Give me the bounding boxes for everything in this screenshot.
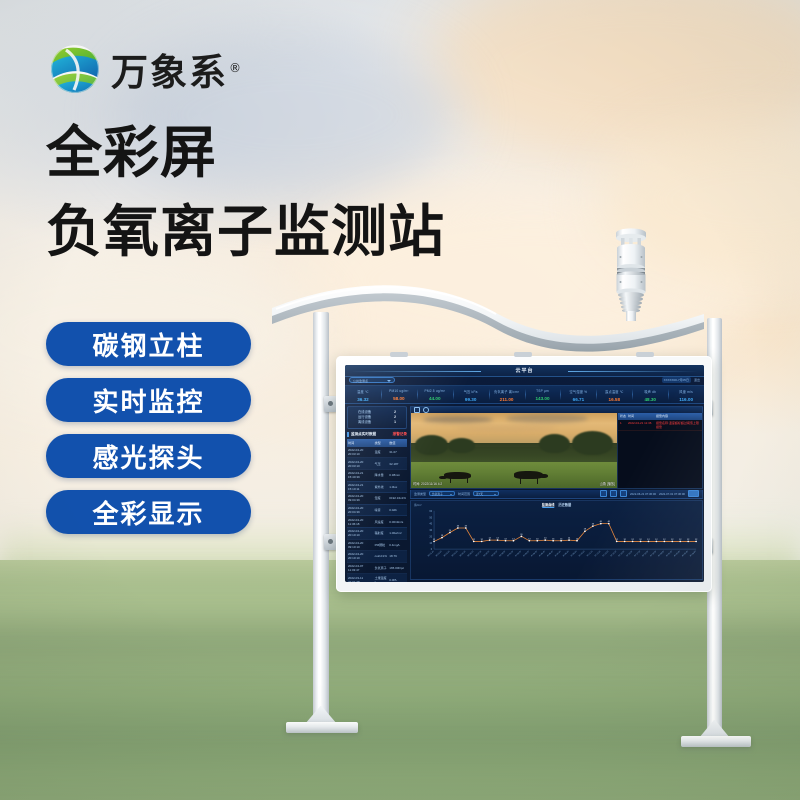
feature-badge-full-color-display: 全彩显示 xyxy=(46,490,251,534)
chart-point-label: 13 xyxy=(504,538,507,540)
cell-type: 噪音 xyxy=(374,504,389,516)
cell-value: 0.0db xyxy=(388,504,407,516)
cell-time: 2022-04-20 20:03:10 xyxy=(347,458,374,470)
feature-badge-list: 碳钢立柱 实时监控 感光探头 全彩显示 xyxy=(46,322,251,534)
stat-value: 1 xyxy=(394,420,396,425)
metric-tsp: TSP µm 143.00 xyxy=(525,386,561,403)
monitoring-chart-panel: 离/cm³ 监测曲线 历史数据 010203040506012182633331… xyxy=(410,500,703,581)
table-row[interactable]: 2022-04-20 20:03:10气压32.187 xyxy=(347,458,407,470)
metric-value: 211.00 xyxy=(489,397,525,402)
x-tick-label: 06-27 07 xyxy=(475,550,482,557)
chart-point-label: 20 xyxy=(520,533,523,535)
chart-point-label: 14 xyxy=(488,537,491,539)
metric-label: 温度 ℃ xyxy=(345,389,381,394)
data-table-header-bar: 监测点实时数据 报警记录 xyxy=(347,432,407,437)
metric-noise: 噪声 db 48.30 xyxy=(632,386,668,403)
metric-label: 噪声 db xyxy=(632,389,668,394)
cell-value: 32.187 xyxy=(388,458,407,470)
chart-point-label: 12 xyxy=(616,538,619,540)
metric-strip: 温度 ℃ 36.32 PM10 ug/m³ 58.00 PM2.5 ug/m³ … xyxy=(345,385,704,404)
x-tick-label: 06-28 07 xyxy=(483,550,490,557)
chart-point-label: 33 xyxy=(457,525,460,527)
col-type: 类型 xyxy=(374,439,389,447)
date-to[interactable]: 2022-07-01 07:36:00 xyxy=(659,492,685,496)
query-button[interactable] xyxy=(688,490,699,497)
metric-label: 空气湿度 % xyxy=(560,389,596,394)
alarm-row[interactable]: 1 2022-04-21 11:36 报警名称:温度超标超过阈值上限报警 xyxy=(618,420,702,432)
metric-pressure: 气压 kPa 99.30 xyxy=(453,386,489,403)
cell-time: 2022-04-20 20:10:10 xyxy=(347,527,374,539)
x-tick-label: 06-29 07 xyxy=(491,550,498,557)
col-time: 时间 xyxy=(347,439,374,447)
video-cattle-leg xyxy=(520,478,521,484)
chart-point-label: 13 xyxy=(552,538,555,540)
metric-value: 116.00 xyxy=(668,397,704,402)
metric-label: PM10 ug/m³ xyxy=(381,389,417,393)
live-video-feed[interactable]: 时间: 2022/11/16 4:2 山角 [播放] xyxy=(411,413,617,488)
metric-label: 露点温度 ℃ xyxy=(596,389,632,394)
chart-point-label: 33 xyxy=(465,525,468,527)
x-tick-label: 07-21 07 xyxy=(666,550,673,557)
control-label-type: 监测类型 xyxy=(414,492,426,496)
video-cattle-leg xyxy=(450,478,451,483)
cell-type: 风速度 xyxy=(374,516,389,528)
metric-pm10: PM10 ug/m³ 58.00 xyxy=(381,386,417,403)
video-location-label: 山角 [播放] xyxy=(600,481,615,486)
x-tick-label: 07-08 07 xyxy=(563,550,570,557)
header-decor-right xyxy=(568,371,698,372)
x-tick-label: 06-24 07 xyxy=(452,550,459,557)
cell-time: 2022-04-20 09:04:39 xyxy=(347,493,374,505)
x-tick-label: 07-19 07 xyxy=(650,550,657,557)
monitor-type-select[interactable]: 负氧离子 xyxy=(429,491,455,497)
led-screen: 云平台 公共监测点 XXXXX00-7月05日 退出 温度 ℃ 36.32 PM… xyxy=(345,365,704,582)
x-tick-label: 06-21 07 xyxy=(428,550,435,557)
table-row[interactable]: 2022-04-21 15:10:11紫外线1.0lux xyxy=(347,481,407,493)
x-tick-label: 07-13 07 xyxy=(602,550,609,557)
ultrasonic-weather-sensor-icon xyxy=(608,225,654,321)
x-tick-label: 07-16 07 xyxy=(626,550,633,557)
table-row[interactable]: 2022-04-20 11:36:18风速度0.0019m/s xyxy=(347,516,407,528)
cell-value: 31.07 xyxy=(388,447,407,458)
display-cabinet: 云平台 公共监测点 XXXXX00-7月05日 退出 温度 ℃ 36.32 PM… xyxy=(336,356,712,592)
x-tick-label: 07-07 07 xyxy=(555,550,562,557)
brand-name: 万象系® xyxy=(111,42,243,96)
metric-label: 风速 m/s xyxy=(668,389,704,394)
y-tick-label: 40 xyxy=(429,522,432,525)
cell-type: 紫外线 xyxy=(374,481,389,493)
chart-point-label: 12 xyxy=(655,538,658,540)
x-tick-label: 07-15 07 xyxy=(618,550,625,557)
metric-value: 16.58 xyxy=(596,397,632,402)
alarm-record-link[interactable]: 报警记录 xyxy=(393,432,407,437)
video-cattle-leg xyxy=(467,478,468,483)
headline-line-2: 负氧离子监测站 xyxy=(46,205,445,261)
site-select-dropdown[interactable]: 公共监测点 xyxy=(349,377,395,383)
x-tick-label: 06-25 07 xyxy=(460,550,467,557)
feature-badge-carbon-steel-post: 碳钢立柱 xyxy=(46,322,251,366)
device-stats-panel: 在线设备 2 运行设备 2 离线设备 1 xyxy=(347,406,407,429)
chart-point-label: 12 xyxy=(663,538,666,540)
x-tick-label: 07-03 07 xyxy=(523,550,530,557)
x-tick-label: 07-22 07 xyxy=(674,550,681,557)
stat-label: 离线设备 xyxy=(358,420,371,425)
x-tick-label: 06-30 07 xyxy=(499,550,506,557)
table-row[interactable]: 2022-04-20 20:03:10温度31.07 xyxy=(347,447,407,458)
chart-point-label: 12 xyxy=(631,538,634,540)
x-tick-label: 07-04 07 xyxy=(531,550,538,557)
x-tick-label: 07-12 07 xyxy=(595,550,602,557)
dashboard-title: 云平台 xyxy=(515,367,533,374)
table-row[interactable]: 2022-04-20 09:10:10PM颗粒0.4mg/L xyxy=(347,539,407,551)
y-tick-label: 50 xyxy=(429,516,432,519)
cell-type: 温度 xyxy=(374,447,389,458)
table-row[interactable]: 2022-04-20 20:10:10辐射度1.00w/m² xyxy=(347,527,407,539)
metric-temperature: 温度 ℃ 36.32 xyxy=(345,386,381,403)
chart-point-label: 14 xyxy=(496,537,499,539)
alarm-header-row: 状态 时间 报警内容 xyxy=(618,413,702,420)
grass-field-background xyxy=(0,560,800,800)
table-header-row: 时间 类型 数值 xyxy=(347,439,407,447)
metric-pm25: PM2.5 ug/m³ 44.00 xyxy=(417,386,453,403)
metric-value: 48.30 xyxy=(632,397,668,402)
headline-line-1: 全彩屏 xyxy=(46,126,217,182)
cell-value: 0.0PL xyxy=(388,574,407,582)
x-tick-label: 06-26 07 xyxy=(467,550,474,557)
x-tick-label: 07-09 07 xyxy=(571,550,578,557)
cell-type: 负氧离子 xyxy=(374,562,389,574)
cell-type: 气压 xyxy=(374,458,389,470)
x-tick-label: 06-22 07 xyxy=(436,550,443,557)
stat-row: 离线设备 1 xyxy=(352,420,402,425)
center-column: 时间: 2022/11/16 4:2 山角 [播放] 状态 时间 报警内容 xyxy=(409,404,704,582)
cell-type: 辐射度 xyxy=(374,527,389,539)
alarm-content: 报警名称:温度超标超过阈值上限报警 xyxy=(656,421,700,429)
feature-badge-realtime-monitoring: 实时监控 xyxy=(46,378,251,422)
cell-time: 2022-04-21 15:40:39 xyxy=(347,469,374,481)
alarm-col-time: 时间 xyxy=(628,414,656,418)
cell-type: PM颗粒 xyxy=(374,539,389,551)
user-name: XXXXX00-7月05日 xyxy=(662,377,691,383)
metric-value: 143.00 xyxy=(525,396,561,401)
cell-time: 2022-04-20 20:04:39 xyxy=(347,504,374,516)
alarm-list-pane: 状态 时间 报警内容 1 2022-04-21 11:36 报警名称:温度超标超… xyxy=(617,413,702,488)
cell-time: 2022-04-20 20:10:10 xyxy=(347,551,374,563)
cell-time: 2022-04-20 20:03:10 xyxy=(347,447,374,458)
monitoring-dashboard: 云平台 公共监测点 XXXXX00-7月05日 退出 温度 ℃ 36.32 PM… xyxy=(345,365,704,582)
cell-value: 0.38mm xyxy=(388,469,407,481)
x-tick-label: 07-20 07 xyxy=(658,550,665,557)
view-mode-icon-1[interactable] xyxy=(600,490,607,497)
cell-value: 0192.34x1% xyxy=(388,493,407,505)
cabinet-top-tab xyxy=(390,352,408,357)
cell-value: 18.79 xyxy=(388,551,407,563)
alarm-time: 2022-04-21 11:36 xyxy=(628,421,656,429)
cell-type: co2x±1% xyxy=(374,551,389,563)
x-tick-label: 07-18 07 xyxy=(642,550,649,557)
cell-time: 2022-04-21 15:10:11 xyxy=(347,481,374,493)
x-tick-label: 07-24 07 xyxy=(690,550,697,557)
chart-point-label: 12 xyxy=(473,538,476,540)
metric-dew-point: 露点温度 ℃ 16.58 xyxy=(596,386,632,403)
chart-point-label: 12 xyxy=(671,538,674,540)
table-row[interactable]: 2022-03-11 21:01:38土壤温度I0.0PL xyxy=(347,574,407,582)
cell-value: 0.0019m/s xyxy=(388,516,407,528)
cell-value: 165.00h/pc xyxy=(388,562,407,574)
chart-point-label: 12 xyxy=(695,538,698,540)
x-tick-label: 07-06 07 xyxy=(547,550,554,557)
x-tick-label: 07-02 07 xyxy=(515,550,522,557)
feature-badge-light-sensor: 感光探头 xyxy=(46,434,251,478)
metric-label: PM2.5 ug/m³ xyxy=(417,389,453,393)
video-tree xyxy=(539,434,570,453)
user-info: XXXXX00-7月05日 退出 xyxy=(662,377,700,383)
data-table-title: 监测点实时数据 xyxy=(347,432,376,437)
chart-point-label: 40 xyxy=(608,521,611,523)
video-cattle-head xyxy=(539,474,548,478)
x-tick-label: 07-23 07 xyxy=(682,550,689,557)
metric-label: 负氧离子 离/cm³ xyxy=(489,389,525,394)
time-range-select[interactable]: 近7天 xyxy=(473,491,499,497)
brand-logo: 万象系® xyxy=(48,42,243,96)
chart-point-label: 13 xyxy=(528,538,531,540)
cell-time: 2022-04-20 11:36:18 xyxy=(347,516,374,528)
chart-point-label: 12 xyxy=(687,538,690,540)
left-support-post xyxy=(313,312,329,722)
product-banner: 万象系® 全彩屏 负氧离子监测站 碳钢立柱 实时监控 感光探头 全彩显示 xyxy=(0,0,800,800)
table-row[interactable]: 2022-04-07 11:03:47负氧离子165.00h/pc xyxy=(347,562,407,574)
cell-time: 2022-03-11 21:01:38 xyxy=(347,574,374,582)
cell-type: 湿度 xyxy=(374,493,389,505)
video-tree xyxy=(572,431,613,455)
alarm-col-status: 状态 xyxy=(620,414,628,418)
x-tick-label: 07-17 07 xyxy=(634,550,641,557)
metric-wind-speed: 风速 m/s 116.00 xyxy=(668,386,704,403)
chart-point-label: 40 xyxy=(600,521,603,523)
x-tick-label: 06-23 07 xyxy=(444,550,451,557)
video-tree xyxy=(415,435,448,454)
dashboard-header: 云平台 xyxy=(345,365,704,377)
x-tick-label: 07-11 07 xyxy=(587,550,594,556)
video-cattle-leg xyxy=(537,478,538,484)
y-tick-label: 10 xyxy=(429,541,432,544)
x-tick-label: 07-14 07 xyxy=(610,550,617,557)
metric-value: 66.71 xyxy=(560,397,596,402)
chart-point-label: 13 xyxy=(536,538,539,540)
left-column: 在线设备 2 运行设备 2 离线设备 1 xyxy=(345,404,409,582)
video-tree xyxy=(448,438,475,453)
table-row[interactable]: 2022-04-21 15:40:39降水量0.38mm xyxy=(347,469,407,481)
cell-time: 2022-04-07 11:03:47 xyxy=(347,562,374,574)
y-tick-label: 30 xyxy=(429,529,432,532)
y-tick-label: 60 xyxy=(429,509,432,512)
chart-point-label: 14 xyxy=(544,537,547,539)
metric-value: 44.00 xyxy=(417,396,453,401)
trademark-symbol: ® xyxy=(229,61,243,75)
x-tick-label: 07-05 07 xyxy=(539,550,546,557)
realtime-data-table: 时间 类型 数值 2022-04-20 20:03:10温度31.072022-… xyxy=(347,439,407,582)
view-mode-icon-3[interactable] xyxy=(620,490,627,497)
video-and-alarm-area: 时间: 2022/11/16 4:2 山角 [播放] 状态 时间 报警内容 xyxy=(410,413,703,489)
chart-point-label: 12 xyxy=(639,538,642,540)
metric-label: TSP µm xyxy=(525,389,561,393)
chart-point-label: 13 xyxy=(560,538,563,540)
chart-control-bar: 监测类型 负氧离子 时间范围 近7天 2022-06-21 07:36:00 2… xyxy=(410,490,703,499)
chart-point-label: 12 xyxy=(623,538,626,540)
view-mode-icon-2[interactable] xyxy=(610,490,617,497)
cabinet-top-tab xyxy=(636,352,654,357)
table-row[interactable]: 2022-04-20 20:04:39噪音0.0db xyxy=(347,504,407,516)
globe-swirl-logo-icon xyxy=(48,42,102,96)
video-timestamp: 时间: 2022/11/16 4:2 xyxy=(413,481,442,486)
metric-value: 58.00 xyxy=(381,396,417,401)
metric-value: 99.30 xyxy=(453,397,489,402)
table-row[interactable]: 2022-04-20 20:10:10co2x±1%18.79 xyxy=(347,551,407,563)
control-label-range: 时间范围 xyxy=(458,492,470,496)
cell-type: 土壤温度I xyxy=(374,574,389,582)
cell-value: 1.00w/m² xyxy=(388,527,407,539)
col-value: 数值 xyxy=(388,439,407,447)
chart-point-label: 14 xyxy=(568,537,571,539)
cell-type: 降水量 xyxy=(374,469,389,481)
metric-negative-oxygen-ion: 负氧离子 离/cm³ 211.00 xyxy=(489,386,525,403)
cell-value: 0.4mg/L xyxy=(388,539,407,551)
alarm-status: 1 xyxy=(620,421,628,429)
logout-link[interactable]: 退出 xyxy=(694,378,700,382)
x-tick-label: 07-01 07 xyxy=(507,550,514,557)
date-from[interactable]: 2022-06-21 07:36:00 xyxy=(630,492,656,496)
header-decor-left xyxy=(351,371,481,372)
metric-value: 36.32 xyxy=(345,397,381,402)
table-row[interactable]: 2022-04-20 09:04:39湿度0192.34x1% xyxy=(347,493,407,505)
cabinet-top-tab xyxy=(514,352,532,357)
metric-label: 气压 kPa xyxy=(453,389,489,394)
dashboard-body: 在线设备 2 运行设备 2 离线设备 1 xyxy=(345,404,704,582)
cell-value: 1.0lux xyxy=(388,481,407,493)
chart-point-label: 12 xyxy=(647,538,650,540)
line-chart: 0102030405060121826333312121414131320131… xyxy=(413,507,700,564)
chart-point-label: 12 xyxy=(481,538,484,540)
alarm-col-content: 报警内容 xyxy=(656,414,700,418)
video-toolbar xyxy=(410,406,703,413)
cell-time: 2022-04-20 09:10:10 xyxy=(347,539,374,551)
video-cloud xyxy=(456,425,555,432)
chart-axes xyxy=(434,510,696,548)
chart-point-label: 12 xyxy=(679,538,682,540)
metric-humidity: 空气湿度 % 66.71 xyxy=(560,386,596,403)
x-tick-label: 07-10 07 xyxy=(579,550,586,557)
